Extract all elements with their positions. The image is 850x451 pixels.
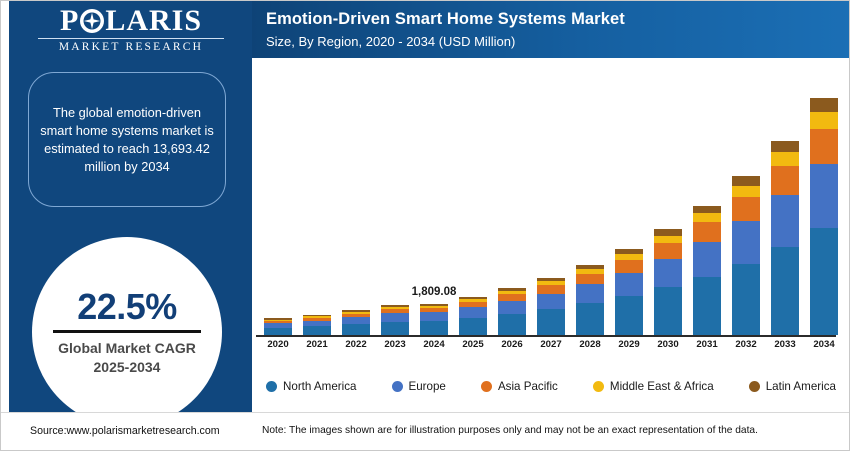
- bar-segment-north-america-2020: [264, 328, 292, 335]
- bar-segment-middle-east-africa-2030: [654, 236, 682, 243]
- compass-star-icon: [80, 9, 104, 33]
- chart-subtitle: Size, By Region, 2020 - 2034 (USD Millio…: [266, 32, 850, 52]
- bar-column-2022[interactable]: [342, 98, 370, 335]
- bar-segment-north-america-2031: [693, 277, 721, 335]
- bar-column-2028[interactable]: [576, 98, 604, 335]
- bar-segment-asia-pacific-2027: [537, 285, 565, 294]
- bar-segment-middle-east-africa-2032: [732, 186, 760, 197]
- x-axis-label-2033: 2033: [771, 339, 799, 350]
- bar-segment-europe-2034: [810, 164, 838, 228]
- note-text: Note: The images shown are for illustrat…: [262, 425, 758, 436]
- bar-segment-asia-pacific-2030: [654, 243, 682, 259]
- bar-segment-north-america-2023: [381, 322, 409, 335]
- bar-segment-europe-2026: [498, 301, 526, 314]
- bar-segment-europe-2023: [381, 313, 409, 321]
- bar-column-2031[interactable]: [693, 98, 721, 335]
- bar-segment-latin-america-2034: [810, 98, 838, 112]
- bar-segment-europe-2027: [537, 294, 565, 310]
- bar-segment-north-america-2033: [771, 247, 799, 335]
- bar-column-2021[interactable]: [303, 98, 331, 335]
- bar-column-2033[interactable]: [771, 98, 799, 335]
- x-axis-label-2026: 2026: [498, 339, 526, 350]
- bar-segment-north-america-2028: [576, 303, 604, 335]
- x-axis-label-2031: 2031: [693, 339, 721, 350]
- market-callout-text: The global emotion-driven smart home sys…: [39, 104, 215, 176]
- bar-segment-europe-2022: [342, 317, 370, 324]
- bar-segment-middle-east-africa-2034: [810, 112, 838, 128]
- bar-segment-asia-pacific-2029: [615, 260, 643, 273]
- legend-swatch-icon: [266, 381, 277, 392]
- cagr-label: Global Market CAGR: [58, 339, 196, 358]
- bar-segment-north-america-2025: [459, 318, 487, 335]
- bar-segment-europe-2030: [654, 259, 682, 288]
- bar-segment-latin-america-2032: [732, 176, 760, 186]
- bar-segment-north-america-2022: [342, 324, 370, 335]
- logo-letter-p: P: [60, 6, 79, 36]
- bar-column-2024[interactable]: 1,809.08: [420, 98, 448, 335]
- legend-swatch-icon: [593, 381, 604, 392]
- x-axis-label-2030: 2030: [654, 339, 682, 350]
- bar-column-2029[interactable]: [615, 98, 643, 335]
- bar-segment-north-america-2032: [732, 264, 760, 335]
- bar-segment-north-america-2029: [615, 296, 643, 335]
- left-panel: P LARIS MARKET RESEARCH The global emoti…: [0, 0, 252, 412]
- polaris-logo: P LARIS MARKET RESEARCH: [18, 6, 244, 54]
- bar-segment-asia-pacific-2034: [810, 129, 838, 165]
- legend-label: Asia Pacific: [498, 380, 558, 393]
- cagr-badge: 22.5% Global Market CAGR 2025-2034: [32, 237, 222, 412]
- cagr-years: 2025-2034: [94, 358, 161, 377]
- bar-segment-europe-2028: [576, 284, 604, 303]
- bar-segment-north-america-2026: [498, 314, 526, 335]
- footer-divider: [0, 412, 850, 413]
- bar-segment-europe-2033: [771, 195, 799, 248]
- x-axis-label-2025: 2025: [459, 339, 487, 350]
- bar-column-2027[interactable]: [537, 98, 565, 335]
- legend-label: North America: [283, 380, 356, 393]
- chart-header: Emotion-Driven Smart Home Systems Market…: [252, 0, 850, 58]
- bar-segment-europe-2024: [420, 312, 448, 320]
- legend-item-north-america[interactable]: North America: [266, 380, 356, 393]
- x-axis-label-2034: 2034: [810, 339, 838, 350]
- bar-column-2025[interactable]: [459, 98, 487, 335]
- cagr-value: 22.5%: [77, 287, 177, 327]
- legend-swatch-icon: [392, 381, 403, 392]
- legend-item-asia-pacific[interactable]: Asia Pacific: [481, 380, 558, 393]
- logo-divider: [38, 38, 224, 39]
- bar-segment-middle-east-africa-2033: [771, 152, 799, 165]
- bar-column-2030[interactable]: [654, 98, 682, 335]
- bar-column-2023[interactable]: [381, 98, 409, 335]
- bar-segment-north-america-2034: [810, 228, 838, 335]
- bar-segment-asia-pacific-2033: [771, 166, 799, 195]
- legend-item-middle-east-africa[interactable]: Middle East & Africa: [593, 380, 714, 393]
- left-accent-stripe: [0, 0, 9, 412]
- chart-panel: 1,809.08 2020202120222023202420252026202…: [252, 58, 850, 412]
- x-axis-label-2023: 2023: [381, 339, 409, 350]
- bar-segment-asia-pacific-2028: [576, 274, 604, 285]
- x-axis-label-2020: 2020: [264, 339, 292, 350]
- bar-segment-asia-pacific-2032: [732, 197, 760, 221]
- legend-swatch-icon: [749, 381, 760, 392]
- legend-label: Middle East & Africa: [610, 380, 714, 393]
- legend-item-europe[interactable]: Europe: [392, 380, 446, 393]
- infographic-page: P LARIS MARKET RESEARCH The global emoti…: [0, 0, 850, 451]
- x-axis-label-2029: 2029: [615, 339, 643, 350]
- bar-segment-asia-pacific-2031: [693, 222, 721, 241]
- logo-wordmark: P LARIS: [18, 6, 244, 36]
- x-axis-label-2021: 2021: [303, 339, 331, 350]
- logo-letters-laris: LARIS: [105, 6, 202, 36]
- bar-segment-middle-east-africa-2031: [693, 213, 721, 222]
- x-axis-labels: 2020202120222023202420252026202720282029…: [260, 339, 842, 350]
- x-axis-label-2022: 2022: [342, 339, 370, 350]
- bar-segment-europe-2031: [693, 242, 721, 277]
- bar-segment-europe-2032: [732, 221, 760, 264]
- legend-label: Europe: [409, 380, 446, 393]
- bar-segment-north-america-2021: [303, 326, 331, 335]
- x-axis-label-2024: 2024: [420, 339, 448, 350]
- market-callout-box: The global emotion-driven smart home sys…: [28, 72, 226, 207]
- plot-area: 1,809.08: [260, 90, 842, 335]
- bar-segment-europe-2029: [615, 273, 643, 296]
- bar-segment-latin-america-2033: [771, 141, 799, 153]
- x-axis-label-2032: 2032: [732, 339, 760, 350]
- bar-column-2032[interactable]: [732, 98, 760, 335]
- x-axis-label-2028: 2028: [576, 339, 604, 350]
- bar-column-2034[interactable]: [810, 98, 838, 335]
- bar-segment-latin-america-2031: [693, 206, 721, 214]
- bar-segment-north-america-2027: [537, 309, 565, 335]
- x-axis-label-2027: 2027: [537, 339, 565, 350]
- bar-column-2020[interactable]: [264, 98, 292, 335]
- bar-segment-north-america-2024: [420, 321, 448, 335]
- footer: Source:www.polarismarketresearch.com Not…: [0, 412, 850, 451]
- legend-item-latin-america[interactable]: Latin America: [749, 380, 836, 393]
- bar-column-2026[interactable]: [498, 98, 526, 335]
- legend-swatch-icon: [481, 381, 492, 392]
- bar-segment-europe-2025: [459, 307, 487, 317]
- bar-segment-north-america-2030: [654, 287, 682, 335]
- legend-label: Latin America: [766, 380, 836, 393]
- bar-value-label-2024: 1,809.08: [412, 286, 457, 298]
- chart-legend: North AmericaEuropeAsia PacificMiddle Ea…: [260, 380, 842, 393]
- cagr-divider: [53, 330, 201, 333]
- x-axis-line: [256, 335, 836, 337]
- chart-title: Emotion-Driven Smart Home Systems Market: [266, 8, 850, 30]
- bar-segment-asia-pacific-2026: [498, 294, 526, 301]
- source-text: Source:www.polarismarketresearch.com: [30, 425, 220, 437]
- stacked-bar-group: 1,809.08: [260, 98, 842, 335]
- logo-subtitle: MARKET RESEARCH: [18, 41, 244, 53]
